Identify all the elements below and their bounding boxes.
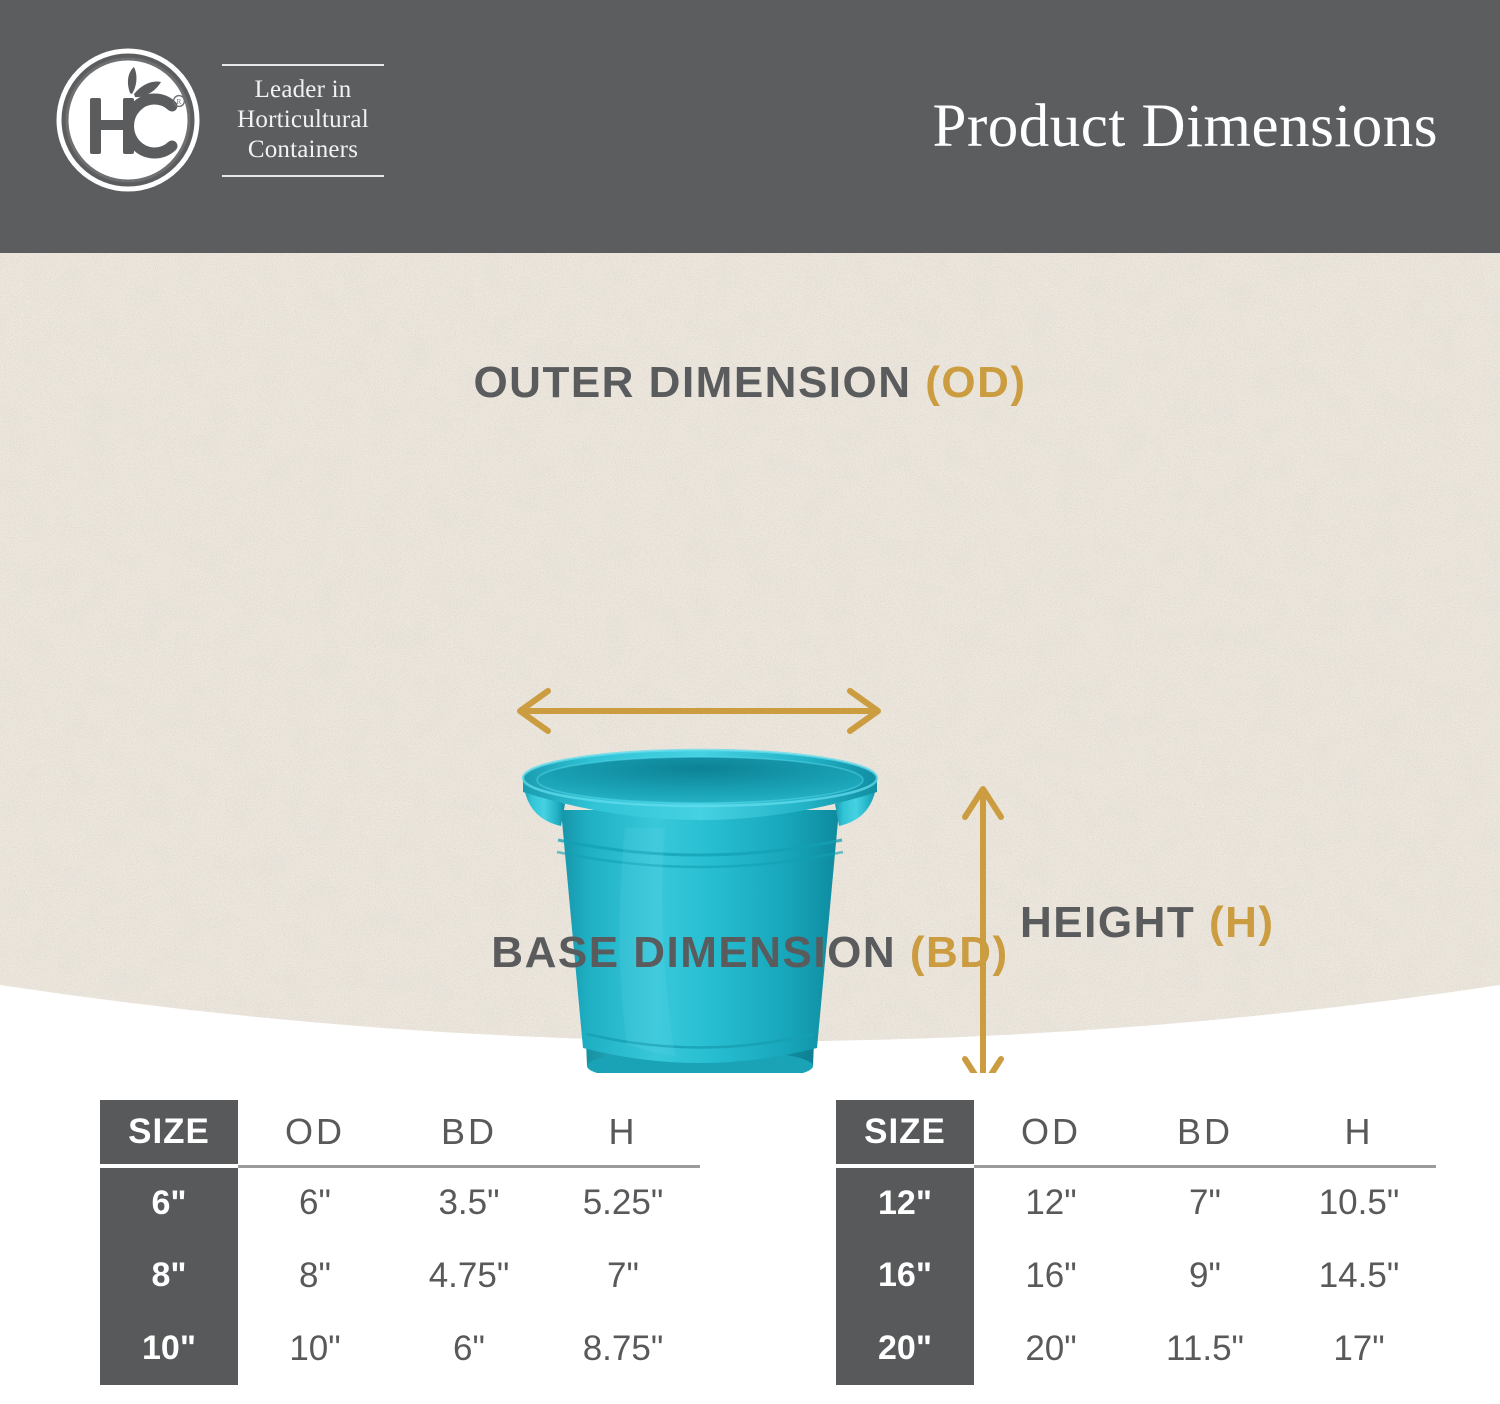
table-row: 8" 8" 4.75" 7"	[100, 1239, 700, 1312]
column-header-od: OD	[238, 1100, 392, 1166]
outer-dimension-text: OUTER DIMENSION	[473, 358, 911, 407]
table-small-sizes: SIZE OD BD H 6" 6" 3.5" 5.25" 8" 8" 4.75…	[100, 1100, 700, 1385]
brand-tagline: Leader in Horticultural Containers	[222, 64, 384, 177]
cell-od: 10"	[238, 1312, 392, 1385]
cell-od: 8"	[238, 1239, 392, 1312]
tagline-line-2: Horticultural	[222, 105, 384, 135]
column-header-bd: BD	[392, 1100, 546, 1166]
outer-dimension-arrow-icon	[500, 683, 900, 743]
page-title: Product Dimensions	[933, 92, 1438, 162]
table-row: 16" 16" 9" 14.5"	[836, 1239, 1436, 1312]
cell-bd: 4.75"	[392, 1239, 546, 1312]
hero-panel: OUTER DIMENSION (OD)	[0, 253, 1500, 1073]
cell-bd: 6"	[392, 1312, 546, 1385]
cell-h: 7"	[546, 1239, 700, 1312]
height-arrow-icon	[955, 773, 1011, 1073]
cell-bd: 3.5"	[392, 1166, 546, 1239]
table-header-row: SIZE OD BD H	[100, 1100, 700, 1166]
cell-h: 8.75"	[546, 1312, 700, 1385]
cell-size: 20"	[836, 1312, 974, 1385]
column-header-size: SIZE	[100, 1100, 238, 1166]
tagline-line-3: Containers	[222, 135, 384, 165]
column-header-size: SIZE	[836, 1100, 974, 1166]
tagline-line-1: Leader in	[222, 75, 384, 105]
cell-od: 12"	[974, 1166, 1128, 1239]
height-label: HEIGHT (H)	[1020, 898, 1275, 948]
cell-h: 5.25"	[546, 1166, 700, 1239]
cell-h: 14.5"	[1282, 1239, 1436, 1312]
cell-od: 16"	[974, 1239, 1128, 1312]
cell-h: 17"	[1282, 1312, 1436, 1385]
table-row: 20" 20" 11.5" 17"	[836, 1312, 1436, 1385]
hc-circle-monogram-logo: R	[56, 48, 200, 192]
column-header-od: OD	[974, 1100, 1128, 1166]
cell-size: 6"	[100, 1166, 238, 1239]
column-header-bd: BD	[1128, 1100, 1282, 1166]
table-row: 12" 12" 7" 10.5"	[836, 1166, 1436, 1239]
logo-svg: R	[56, 48, 200, 192]
outer-dimension-label: OUTER DIMENSION (OD)	[473, 358, 1026, 408]
base-dimension-text: BASE DIMENSION	[491, 928, 896, 977]
cell-bd: 11.5"	[1128, 1312, 1282, 1385]
cell-bd: 7"	[1128, 1166, 1282, 1239]
brand-lockup: R Leader in Horticultural Containers	[56, 48, 384, 192]
cell-od: 20"	[974, 1312, 1128, 1385]
cell-size: 12"	[836, 1166, 974, 1239]
svg-text:R: R	[177, 98, 182, 106]
cell-h: 10.5"	[1282, 1166, 1436, 1239]
outer-dimension-abbr: (OD)	[925, 358, 1026, 407]
table-row: 6" 6" 3.5" 5.25"	[100, 1166, 700, 1239]
column-header-h: H	[546, 1100, 700, 1166]
cell-size: 16"	[836, 1239, 974, 1312]
cell-size: 8"	[100, 1239, 238, 1312]
column-header-h: H	[1282, 1100, 1436, 1166]
cell-od: 6"	[238, 1166, 392, 1239]
height-abbr: (H)	[1209, 898, 1275, 947]
height-text: HEIGHT	[1020, 898, 1195, 947]
planter-product-image	[505, 748, 895, 1073]
table-row: 10" 10" 6" 8.75"	[100, 1312, 700, 1385]
cell-bd: 9"	[1128, 1239, 1282, 1312]
table-header-row: SIZE OD BD H	[836, 1100, 1436, 1166]
table-large-sizes: SIZE OD BD H 12" 12" 7" 10.5" 16" 16" 9"	[836, 1100, 1436, 1385]
base-dimension-label: BASE DIMENSION (BD)	[491, 928, 1008, 978]
cell-size: 10"	[100, 1312, 238, 1385]
header-bar: R Leader in Horticultural Containers Pro…	[0, 0, 1500, 253]
